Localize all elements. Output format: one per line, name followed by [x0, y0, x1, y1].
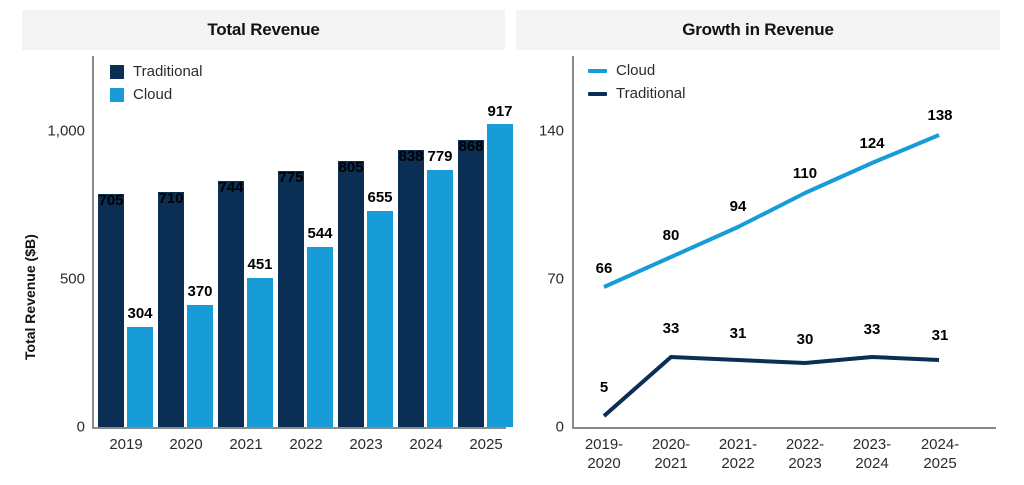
bar-value-traditional-2019: 705 [98, 192, 123, 209]
total-revenue-panel: Total Revenue Total Revenue ($B) 1,000 5… [0, 0, 512, 485]
bar-value-traditional-2025: 868 [458, 138, 483, 155]
bar-value-cloud-2023: 655 [367, 189, 392, 206]
bars-layer [0, 0, 512, 427]
growth-x-tick-label-2020-2021: 2020- 2021 [652, 436, 690, 474]
growth-x-tick-label-2019-2020: 2019- 2020 [585, 436, 623, 474]
cloud-line [604, 135, 939, 287]
traditional-line [604, 357, 939, 416]
bar-cloud-2021 [247, 278, 273, 427]
point-value-traditional-2024-2025: 31 [932, 327, 949, 344]
bar-traditional-2022 [278, 171, 304, 427]
point-value-cloud-2024-2025: 138 [927, 107, 952, 124]
bar-traditional-2023 [338, 161, 364, 427]
point-value-traditional-2020-2021: 33 [663, 320, 680, 337]
bar-value-traditional-2021: 744 [218, 179, 243, 196]
bar-traditional-2020 [158, 192, 184, 427]
total-revenue-plot: Total Revenue ($B) 1,000 500 0 Tradition… [0, 0, 512, 485]
bar-value-traditional-2022: 775 [278, 169, 303, 186]
bar-value-cloud-2020: 370 [187, 283, 212, 300]
x-tick-label-2020: 2020 [169, 436, 202, 455]
growth-x-tick-label-2022-2023: 2022- 2023 [786, 436, 824, 474]
bar-traditional-2025 [458, 140, 484, 427]
point-value-traditional-2022-2023: 30 [797, 331, 814, 348]
x-tick-label-2025: 2025 [469, 436, 502, 455]
bar-value-traditional-2024: 838 [398, 148, 423, 165]
bar-cloud-2025 [487, 124, 513, 427]
bar-traditional-2019 [98, 194, 124, 427]
x-tick-label-2022: 2022 [289, 436, 322, 455]
point-value-cloud-2020-2021: 80 [663, 227, 680, 244]
x-tick-label-2024: 2024 [409, 436, 442, 455]
bar-value-traditional-2023: 805 [338, 159, 363, 176]
dual-chart-figure: Total Revenue Total Revenue ($B) 1,000 5… [0, 0, 1024, 485]
growth-lines-svg [512, 0, 1024, 485]
bar-value-cloud-2024: 779 [427, 148, 452, 165]
bar-value-cloud-2021: 451 [247, 256, 272, 273]
bar-cloud-2020 [187, 305, 213, 427]
point-value-traditional-2023-2024: 33 [864, 321, 881, 338]
x-tick-label-2021: 2021 [229, 436, 262, 455]
growth-x-tick-label-2023-2024: 2023- 2024 [853, 436, 891, 474]
bar-cloud-2022 [307, 247, 333, 427]
point-value-cloud-2022-2023: 110 [793, 165, 817, 182]
bar-cloud-2019 [127, 327, 153, 427]
growth-in-revenue-plot: 140 70 0 Cloud Traditional [512, 0, 1024, 485]
x-tick-label-2019: 2019 [109, 436, 142, 455]
point-value-traditional-2019-2020: 5 [600, 379, 608, 396]
bar-cloud-2024 [427, 170, 453, 427]
point-value-traditional-2021-2022: 31 [730, 325, 747, 342]
growth-x-tick-label-2021-2022: 2021- 2022 [719, 436, 757, 474]
bar-value-traditional-2020: 710 [158, 190, 183, 207]
bar-cloud-2023 [367, 211, 393, 427]
growth-x-tick-label-2024-2025: 2024- 2025 [921, 436, 959, 474]
growth-in-revenue-panel: Growth in Revenue 140 70 0 Cloud Traditi… [512, 0, 1024, 485]
bar-traditional-2024 [398, 150, 424, 427]
point-value-cloud-2019-2020: 66 [596, 260, 613, 277]
x-axis-line [92, 427, 506, 429]
point-value-cloud-2023-2024: 124 [859, 135, 884, 152]
x-tick-label-2023: 2023 [349, 436, 382, 455]
bar-value-cloud-2022: 544 [307, 225, 332, 242]
point-value-cloud-2021-2022: 94 [730, 198, 747, 215]
bar-value-cloud-2019: 304 [127, 305, 152, 322]
bar-traditional-2021 [218, 181, 244, 427]
bar-value-cloud-2025: 917 [487, 103, 512, 120]
